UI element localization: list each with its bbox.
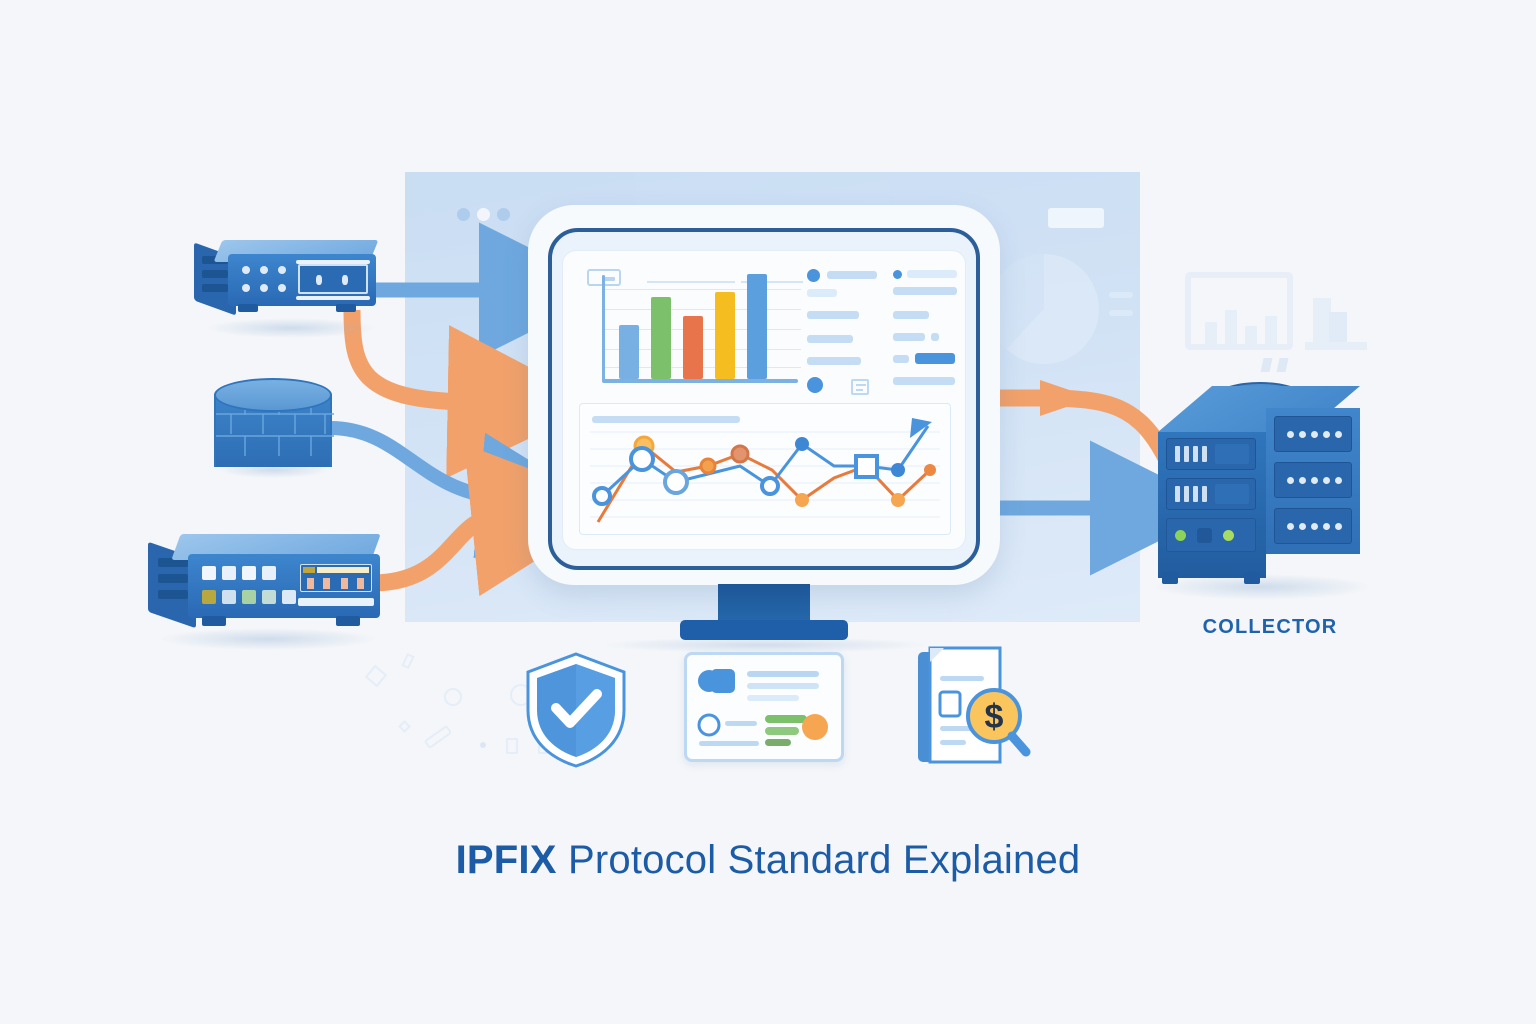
router-foot bbox=[238, 304, 258, 312]
placeholder-line bbox=[807, 335, 853, 343]
window-dot-1 bbox=[457, 208, 470, 221]
device-collector bbox=[1158, 368, 1368, 598]
switch-port-led bbox=[242, 590, 256, 604]
switch-port-led bbox=[262, 590, 276, 604]
svg-text:$: $ bbox=[985, 698, 1004, 736]
switch-foot bbox=[336, 616, 360, 626]
placeholder-line bbox=[893, 287, 957, 295]
text-placeholder-column-right bbox=[893, 267, 959, 397]
bullet-dot-1 bbox=[807, 269, 820, 282]
collector-right-face bbox=[1266, 408, 1360, 554]
bar-chart-y-axis bbox=[602, 275, 605, 381]
page-title-rest: Protocol Standard Explained bbox=[568, 838, 1080, 882]
collector-front-face bbox=[1158, 432, 1266, 578]
router-led bbox=[260, 266, 268, 274]
bar-chart-x-axis bbox=[602, 379, 798, 383]
switch-front-face bbox=[188, 554, 380, 618]
router-foot bbox=[336, 304, 356, 312]
device-switch bbox=[140, 528, 390, 648]
collector-front-bay bbox=[1166, 478, 1256, 510]
placeholder-highlight bbox=[915, 353, 955, 364]
monitor-stand-base bbox=[680, 620, 848, 640]
collector-bay bbox=[1274, 508, 1352, 544]
line-watermark-2 bbox=[1109, 310, 1133, 316]
shield-check-icon bbox=[520, 650, 632, 770]
router-strip bbox=[296, 296, 370, 300]
placeholder-line bbox=[893, 333, 925, 341]
router-led bbox=[260, 284, 268, 292]
device-firewall bbox=[214, 378, 336, 474]
illustration-canvas: COLLECTOR bbox=[0, 0, 1536, 1024]
collector-button bbox=[1197, 528, 1212, 543]
collector-status-led-green-2 bbox=[1223, 530, 1234, 541]
report-card-icon bbox=[684, 652, 844, 762]
placeholder-line bbox=[931, 333, 939, 341]
switch-panel bbox=[300, 564, 372, 592]
router-shadow bbox=[206, 318, 376, 338]
device-router bbox=[186, 236, 386, 336]
page-title-bold: IPFIX bbox=[456, 838, 557, 882]
switch-port-led bbox=[282, 590, 296, 604]
placeholder-line bbox=[807, 289, 837, 297]
line-chart bbox=[579, 403, 951, 535]
collector-foot bbox=[1244, 572, 1260, 584]
bullet-dot-3 bbox=[893, 270, 902, 279]
collector-status-led-green bbox=[1175, 530, 1186, 541]
bar-1 bbox=[619, 325, 639, 379]
placeholder-line bbox=[807, 311, 859, 319]
router-panel-led bbox=[316, 275, 322, 285]
placeholder-line bbox=[893, 311, 929, 319]
text-placeholder-column-left bbox=[807, 267, 881, 397]
router-led bbox=[278, 266, 286, 274]
line-markers-blue bbox=[594, 437, 905, 504]
bar-4 bbox=[715, 292, 735, 379]
router-front-face bbox=[228, 254, 376, 306]
chart-subtitle-placeholder bbox=[592, 416, 740, 423]
switch-vent bbox=[158, 574, 188, 583]
placeholder-line bbox=[807, 357, 861, 365]
collector-bay bbox=[1274, 462, 1352, 498]
collector-bay bbox=[1274, 416, 1352, 452]
monitor-stand-neck bbox=[718, 584, 810, 624]
collector-status-bay bbox=[1166, 518, 1256, 552]
list-mini-icon bbox=[851, 379, 869, 395]
switch-port bbox=[242, 566, 256, 580]
router-vent bbox=[202, 284, 228, 292]
firewall-top bbox=[214, 378, 332, 412]
switch-port bbox=[222, 566, 236, 580]
bar-2 bbox=[651, 297, 671, 379]
window-dot-2 bbox=[477, 208, 490, 221]
collector-front-bay bbox=[1166, 438, 1256, 470]
bar-chart bbox=[581, 267, 801, 391]
router-led bbox=[242, 284, 250, 292]
placeholder-line bbox=[827, 271, 877, 279]
bar-3 bbox=[683, 316, 703, 379]
line-chart-svg bbox=[580, 404, 952, 536]
switch-foot bbox=[202, 616, 226, 626]
placeholder-line bbox=[893, 355, 909, 363]
window-chip bbox=[1048, 208, 1104, 228]
pie-watermark-icon bbox=[989, 254, 1099, 364]
switch-vent bbox=[158, 590, 188, 599]
router-strip bbox=[296, 260, 370, 264]
router-led bbox=[242, 266, 250, 274]
placeholder-line bbox=[893, 377, 955, 385]
switch-strip bbox=[298, 598, 374, 606]
placeholder-line bbox=[907, 270, 957, 278]
page-title: IPFIX Protocol Standard Explained bbox=[0, 838, 1536, 883]
ghost-chart-frame-icon bbox=[1185, 272, 1293, 350]
ghost-building-icon bbox=[1305, 298, 1367, 350]
switch-port-led bbox=[222, 590, 236, 604]
router-panel-led bbox=[342, 275, 348, 285]
switch-port bbox=[262, 566, 276, 580]
collector-foot bbox=[1162, 572, 1178, 584]
bar-5 bbox=[747, 274, 767, 379]
window-dot-3 bbox=[497, 208, 510, 221]
switch-port bbox=[202, 566, 216, 580]
switch-port-led bbox=[202, 590, 216, 604]
router-vent bbox=[202, 270, 228, 278]
chart-title-placeholder-1 bbox=[647, 281, 735, 283]
document-search-cost-icon: $ bbox=[912, 646, 1032, 772]
collector-label: COLLECTOR bbox=[1145, 616, 1395, 639]
router-display-panel bbox=[298, 264, 368, 294]
line-watermark-1 bbox=[1109, 292, 1133, 298]
monitor-screen bbox=[562, 250, 966, 550]
switch-shadow bbox=[158, 628, 378, 650]
bullet-dot-2 bbox=[807, 377, 823, 393]
router-led bbox=[278, 284, 286, 292]
